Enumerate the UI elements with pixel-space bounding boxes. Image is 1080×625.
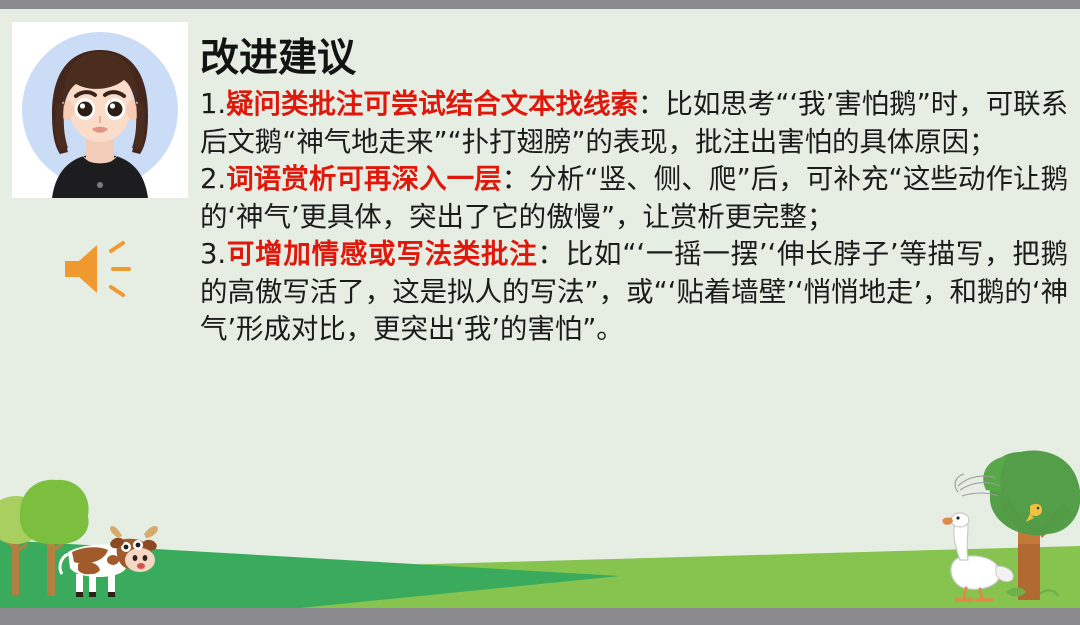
suggestion-number: 1. <box>200 88 226 120</box>
suggestion-heading: 疑问类批注可尝试结合文本找线索 <box>226 88 638 120</box>
speaker-sound-icon[interactable] <box>12 234 188 304</box>
suggestion-heading: 词语赏析可再深入一层 <box>226 163 502 195</box>
avatar[interactable] <box>12 22 188 198</box>
scenery-decoration <box>0 448 1080 608</box>
suggestion-heading: 可增加情感或写法类批注 <box>226 238 537 270</box>
left-column <box>12 22 192 304</box>
suggestion-number: 3. <box>200 238 226 270</box>
bottom-chrome-bar <box>0 608 1080 625</box>
suggestion-item: 2.词语赏析可再深入一层：分析“竖、侧、爬”后，可补充“这些动作让鹅的‘神气’更… <box>200 161 1068 236</box>
scenery-illustration <box>0 448 1080 608</box>
suggestion-item: 1.疑问类批注可尝试结合文本找线索：比如思考“‘我’害怕鹅”时，可联系后文鹅“神… <box>200 86 1068 161</box>
slide-root: 改进建议 1.疑问类批注可尝试结合文本找线索：比如思考“‘我’害怕鹅”时，可联系… <box>0 0 1080 625</box>
top-chrome-bar <box>0 0 1080 9</box>
suggestion-item: 3.可增加情感或写法类批注：比如“‘一摇一摆’‘伸长脖子’等描写，把鹅的高傲写活… <box>200 236 1068 349</box>
suggestion-number: 2. <box>200 163 226 195</box>
content-area: 改进建议 1.疑问类批注可尝试结合文本找线索：比如思考“‘我’害怕鹅”时，可联系… <box>200 34 1068 349</box>
speaker-icon-glyph <box>61 239 139 299</box>
page-title: 改进建议 <box>200 34 1068 84</box>
suggestion-list: 1.疑问类批注可尝试结合文本找线索：比如思考“‘我’害怕鹅”时，可联系后文鹅“神… <box>200 86 1068 349</box>
avatar-illustration <box>12 22 188 198</box>
